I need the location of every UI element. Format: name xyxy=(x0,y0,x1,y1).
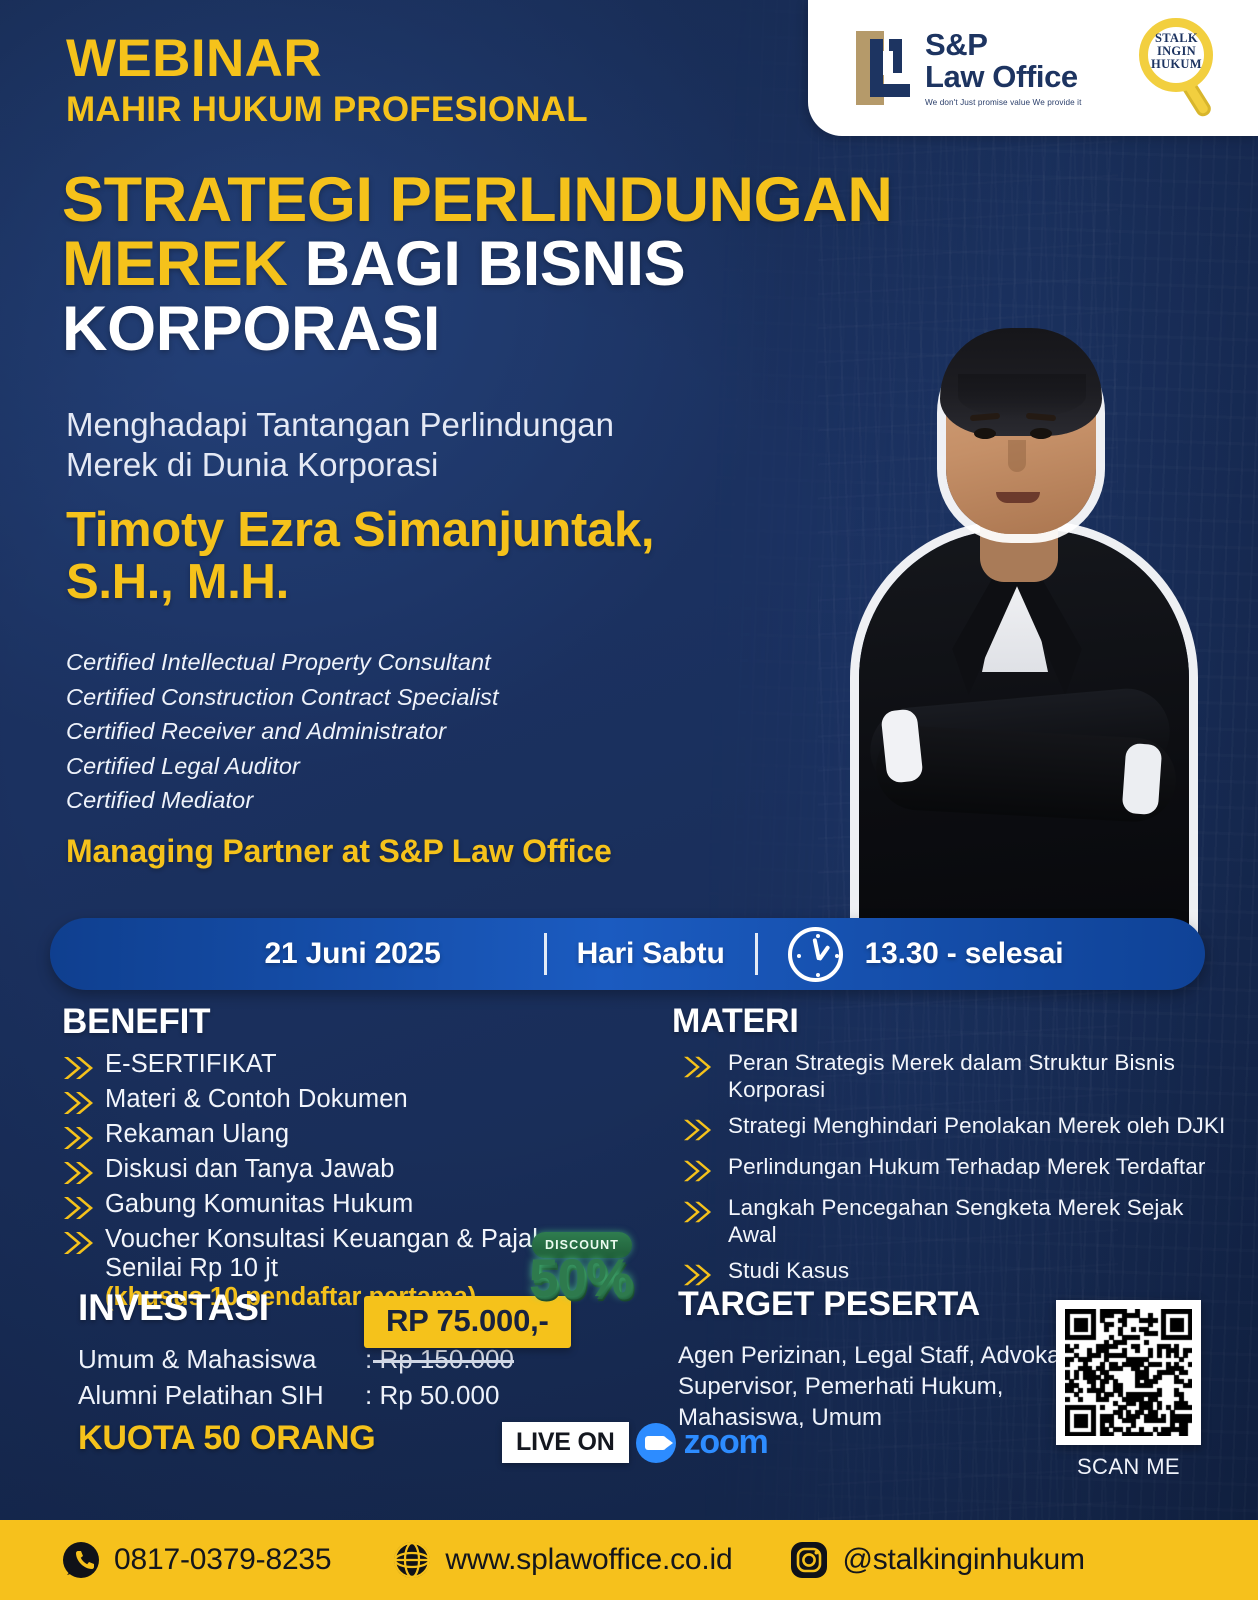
target-body: Agen Perizinan, Legal Staff, Advokat, Su… xyxy=(678,1340,1078,1434)
benefit-item-label: Rekaman Ulang xyxy=(105,1120,289,1149)
double-chevron-icon xyxy=(682,1157,714,1185)
qr-caption: SCAN ME xyxy=(1056,1454,1201,1480)
website-url: www.splawoffice.co.id xyxy=(445,1543,732,1577)
benefit-item-label: E-SERTIFIKAT xyxy=(105,1050,277,1079)
list-item: Rekaman Ulang xyxy=(62,1120,622,1153)
subtitle-line2: Merek di Dunia Korporasi xyxy=(66,445,614,485)
kicker-line2: MAHIR HUKUM PROFESIONAL xyxy=(66,92,588,127)
quota-label: KUOTA 50 ORANG xyxy=(78,1419,376,1458)
list-item: E-SERTIFIKAT xyxy=(62,1050,622,1083)
double-chevron-icon xyxy=(682,1198,714,1226)
price-row-value: : Rp 50.000 xyxy=(365,1380,499,1411)
speaker-name-block: Timoty Ezra Simanjuntak, S.H., M.H. xyxy=(66,505,654,609)
title-line2: MEREK BAGI BISNIS xyxy=(62,232,1022,296)
contact-phone[interactable]: 0817-0379-8235 xyxy=(62,1541,331,1579)
credential-item: Certified Receiver and Administrator xyxy=(66,714,499,749)
speaker-credentials: Certified Intellectual Property Consulta… xyxy=(66,645,499,818)
stalking-in-hukum-logo: STALK INGIN HUKUM xyxy=(1131,16,1223,120)
double-chevron-icon xyxy=(682,1116,714,1144)
clock-icon xyxy=(788,927,843,982)
live-on-label: LIVE ON xyxy=(516,1428,615,1457)
schedule-date: 21 Juni 2025 xyxy=(265,937,441,970)
price-row: Alumni Pelatihan SIH : Rp 50.000 xyxy=(78,1380,514,1411)
title-line1: STRATEGI PERLINDUNGAN xyxy=(62,168,1022,232)
list-item: Perlindungan Hukum Terhadap Merek Terdaf… xyxy=(672,1153,1232,1185)
double-chevron-icon xyxy=(62,1228,96,1258)
qr-code-block[interactable]: SCAN ME xyxy=(1056,1300,1201,1480)
credential-item: Certified Mediator xyxy=(66,783,499,818)
speaker-name-line1: Timoty Ezra Simanjuntak, xyxy=(66,505,654,557)
schedule-day: Hari Sabtu xyxy=(577,937,725,971)
double-chevron-icon xyxy=(682,1053,714,1081)
target-heading: TARGET PESERTA xyxy=(678,1285,980,1324)
subtitle-line1: Menghadapi Tantangan Perlindungan xyxy=(66,405,614,445)
materi-heading: MATERI xyxy=(672,1002,1232,1041)
materi-item-label: Peran Strategis Merek dalam Struktur Bis… xyxy=(728,1049,1232,1103)
title-line2-rest: BAGI BISNIS xyxy=(305,229,686,299)
instagram-icon xyxy=(790,1541,828,1579)
price-row-label: Umum & Mahasiswa xyxy=(78,1344,365,1375)
speaker-role: Managing Partner at S&P Law Office xyxy=(66,833,612,870)
phone-number: 0817-0379-8235 xyxy=(114,1543,331,1577)
double-chevron-icon xyxy=(62,1158,96,1188)
contact-instagram[interactable]: @stalkinginhukum xyxy=(790,1541,1084,1579)
credential-item: Certified Intellectual Property Consulta… xyxy=(66,645,499,680)
schedule-time: 13.30 - selesai xyxy=(865,937,1064,971)
double-chevron-icon xyxy=(62,1193,96,1223)
list-item: Diskusi dan Tanya Jawab xyxy=(62,1155,622,1188)
kicker-block: WEBINAR MAHIR HUKUM PROFESIONAL xyxy=(66,32,588,127)
title-line2-highlight: MEREK xyxy=(62,229,288,299)
list-item: Langkah Pencegahan Sengketa Merek Sejak … xyxy=(672,1194,1232,1248)
list-item: Materi & Contoh Dokumen xyxy=(62,1085,622,1118)
price-row: Umum & Mahasiswa : Rp 150.000 xyxy=(78,1344,514,1375)
credential-item: Certified Legal Auditor xyxy=(66,749,499,784)
zoom-wordmark: zoom xyxy=(684,1423,768,1462)
list-item: Gabung Komunitas Hukum xyxy=(62,1190,622,1223)
materi-list: Peran Strategis Merek dalam Struktur Bis… xyxy=(672,1049,1232,1289)
sih-logo-line2: INGIN xyxy=(1148,45,1204,58)
materi-item-label: Perlindungan Hukum Terhadap Merek Terdaf… xyxy=(728,1153,1206,1180)
list-item: Strategi Menghindari Penolakan Merek ole… xyxy=(672,1112,1232,1144)
sp-law-office-logo: S&P Law Office We don't Just promise val… xyxy=(856,29,1081,107)
page-title: STRATEGI PERLINDUNGAN MEREK BAGI BISNIS … xyxy=(62,168,1022,361)
globe-icon xyxy=(393,1541,431,1579)
investasi-heading: INVESTASI xyxy=(78,1287,269,1329)
price-row-label: Alumni Pelatihan SIH xyxy=(78,1380,365,1411)
schedule-divider xyxy=(755,933,758,975)
discount-amount: 50% xyxy=(518,1248,643,1309)
double-chevron-icon xyxy=(62,1088,96,1118)
header-logo-card: S&P Law Office We don't Just promise val… xyxy=(808,0,1258,136)
sih-logo-line1: STALK xyxy=(1148,32,1204,45)
subtitle: Menghadapi Tantangan Perlindungan Merek … xyxy=(66,405,614,486)
title-line3: KORPORASI xyxy=(62,297,1022,361)
qr-code-image[interactable] xyxy=(1056,1300,1201,1445)
credential-item: Certified Construction Contract Speciali… xyxy=(66,680,499,715)
zoom-camera-icon xyxy=(636,1423,676,1463)
benefit-item-label: Gabung Komunitas Hukum xyxy=(105,1190,413,1219)
sih-logo-line3: HUKUM xyxy=(1148,58,1204,71)
sp-monogram-icon xyxy=(856,31,912,105)
benefit-heading: BENEFIT xyxy=(62,1002,622,1042)
webinar-poster: S&P Law Office We don't Just promise val… xyxy=(0,0,1258,1600)
sp-logo-tagline: We don't Just promise value We provide i… xyxy=(925,98,1081,107)
double-chevron-icon xyxy=(62,1123,96,1153)
kicker-line1: WEBINAR xyxy=(66,32,588,85)
materi-item-label: Langkah Pencegahan Sengketa Merek Sejak … xyxy=(728,1194,1232,1248)
speaker-name-line2: S.H., M.H. xyxy=(66,557,654,609)
benefit-item-label: Diskusi dan Tanya Jawab xyxy=(105,1155,395,1184)
price-row-value: : Rp 150.000 xyxy=(365,1344,514,1375)
schedule-banner: 21 Juni 2025 Hari Sabtu 13.30 - selesai xyxy=(50,918,1205,990)
phone-icon xyxy=(62,1541,100,1579)
contact-footer: 0817-0379-8235 www.splawoffice.co.id xyxy=(0,1520,1258,1600)
platform-badge: LIVE ON zoom xyxy=(502,1422,768,1463)
sp-logo-name-line2: Law Office xyxy=(925,61,1081,93)
double-chevron-icon xyxy=(62,1053,96,1083)
schedule-divider xyxy=(544,933,547,975)
materi-item-label: Strategi Menghindari Penolakan Merek ole… xyxy=(728,1112,1225,1139)
discount-badge: DISCOUNT 50% xyxy=(518,1232,643,1327)
benefit-item-label: Materi & Contoh Dokumen xyxy=(105,1085,408,1114)
price-rows: Umum & Mahasiswa : Rp 150.000 Alumni Pel… xyxy=(78,1344,514,1416)
instagram-handle: @stalkinginhukum xyxy=(842,1543,1084,1577)
live-on-tag: LIVE ON xyxy=(502,1422,629,1463)
materi-item-label: Studi Kasus xyxy=(728,1257,849,1284)
contact-website[interactable]: www.splawoffice.co.id xyxy=(393,1541,732,1579)
list-item: Peran Strategis Merek dalam Struktur Bis… xyxy=(672,1049,1232,1103)
materi-section: MATERI Peran Strategis Merek dalam Struk… xyxy=(672,1002,1232,1298)
sp-logo-name-line1: S&P xyxy=(925,29,1081,61)
